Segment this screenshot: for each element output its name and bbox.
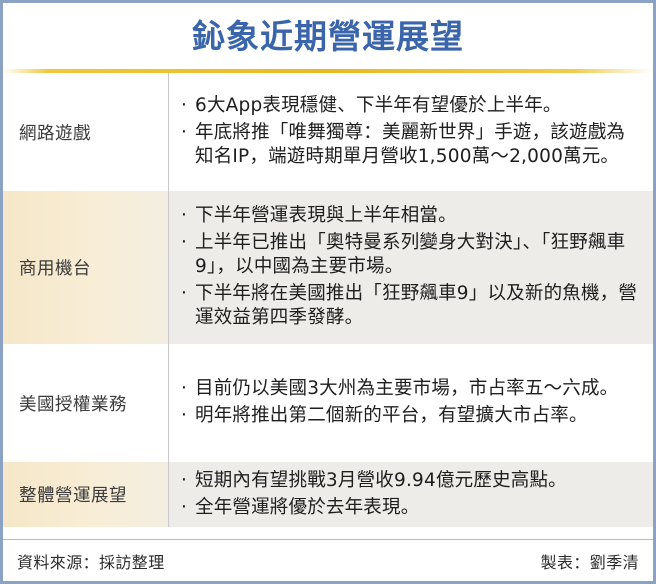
row-label: 網路遊戲 xyxy=(3,73,168,191)
row-label: 整體營運展望 xyxy=(3,462,168,527)
bullet-icon: · xyxy=(181,469,195,494)
list-item-text: 6大App表現穩健、下半年有望優於上半年。 xyxy=(195,94,639,119)
row-label: 商用機台 xyxy=(3,191,168,344)
list-item: · 目前仍以美國3大州為主要市場，市占率五～六成。 xyxy=(181,377,639,402)
list-item: · 下半年營運表現與上半年相當。 xyxy=(181,204,639,229)
list-item-text: 下半年將在美國推出「狂野飆車9」以及新的魚機，營運效益第四季發酵。 xyxy=(195,282,639,331)
bullet-icon: · xyxy=(181,377,195,402)
bullet-icon: · xyxy=(181,496,195,521)
bullet-icon: · xyxy=(181,404,195,429)
page-title: 鈊象近期營運展望 xyxy=(192,20,464,53)
bullet-icon: · xyxy=(181,282,195,307)
row-content: · 下半年營運表現與上半年相當。 · 上半年已推出「奧特曼系列變身大對決」、「狂… xyxy=(168,191,653,344)
infographic-frame: 鈊象近期營運展望 網路遊戲 · 6大App表現穩健、下半年有望優於上半年。 · … xyxy=(0,0,656,584)
list-item-text: 下半年營運表現與上半年相當。 xyxy=(195,204,639,229)
bullet-icon: · xyxy=(181,204,195,229)
table-row: 整體營運展望 · 短期內有望挑戰3月營收9.94億元歷史高點。 · 全年營運將優… xyxy=(3,462,653,527)
list-item: · 全年營運將優於去年表現。 xyxy=(181,496,639,521)
row-content: · 目前仍以美國3大州為主要市場，市占率五～六成。 · 明年將推出第二個新的平台… xyxy=(168,344,653,462)
list-item-text: 上半年已推出「奧特曼系列變身大對決」、「狂野飆車9」，以中國為主要市場。 xyxy=(195,231,639,280)
bullet-icon: · xyxy=(181,94,195,119)
bullet-icon: · xyxy=(181,231,195,256)
list-item-text: 短期內有望挑戰3月營收9.94億元歷史高點。 xyxy=(195,469,639,494)
outlook-table: 網路遊戲 · 6大App表現穩健、下半年有望優於上半年。 · 年底將推「唯舞獨尊… xyxy=(3,73,653,539)
list-item-text: 全年營運將優於去年表現。 xyxy=(195,496,639,521)
bullet-icon: · xyxy=(181,121,195,146)
list-item: · 6大App表現穩健、下半年有望優於上半年。 xyxy=(181,94,639,119)
list-item: · 上半年已推出「奧特曼系列變身大對決」、「狂野飆車9」，以中國為主要市場。 xyxy=(181,231,639,280)
list-item: · 下半年將在美國推出「狂野飆車9」以及新的魚機，營運效益第四季發酵。 xyxy=(181,282,639,331)
list-item: · 明年將推出第二個新的平台，有望擴大市占率。 xyxy=(181,404,639,429)
row-content: · 6大App表現穩健、下半年有望優於上半年。 · 年底將推「唯舞獨尊：美麗新世… xyxy=(168,73,653,191)
list-item: · 年底將推「唯舞獨尊：美麗新世界」手遊，該遊戲為知名IP，端遊時期單月營收1,… xyxy=(181,121,639,170)
table-row: 商用機台 · 下半年營運表現與上半年相當。 · 上半年已推出「奧特曼系列變身大對… xyxy=(3,191,653,344)
list-item-text: 年底將推「唯舞獨尊：美麗新世界」手遊，該遊戲為知名IP，端遊時期單月營收1,50… xyxy=(195,121,639,170)
list-item-text: 目前仍以美國3大州為主要市場，市占率五～六成。 xyxy=(195,377,639,402)
row-content: · 短期內有望挑戰3月營收9.94億元歷史高點。 · 全年營運將優於去年表現。 xyxy=(168,462,653,527)
table-row: 美國授權業務 · 目前仍以美國3大州為主要市場，市占率五～六成。 · 明年將推出… xyxy=(3,344,653,462)
source-note: 資料來源：採訪整理 xyxy=(17,549,165,573)
footer: 資料來源：採訪整理 製表：劉季清 xyxy=(3,539,653,581)
credit-note: 製表：劉季清 xyxy=(541,549,639,573)
list-item-text: 明年將推出第二個新的平台，有望擴大市占率。 xyxy=(195,404,639,429)
row-label: 美國授權業務 xyxy=(3,344,168,462)
table-row: 網路遊戲 · 6大App表現穩健、下半年有望優於上半年。 · 年底將推「唯舞獨尊… xyxy=(3,73,653,191)
list-item: · 短期內有望挑戰3月營收9.94億元歷史高點。 xyxy=(181,469,639,494)
title-area: 鈊象近期營運展望 xyxy=(3,3,653,69)
